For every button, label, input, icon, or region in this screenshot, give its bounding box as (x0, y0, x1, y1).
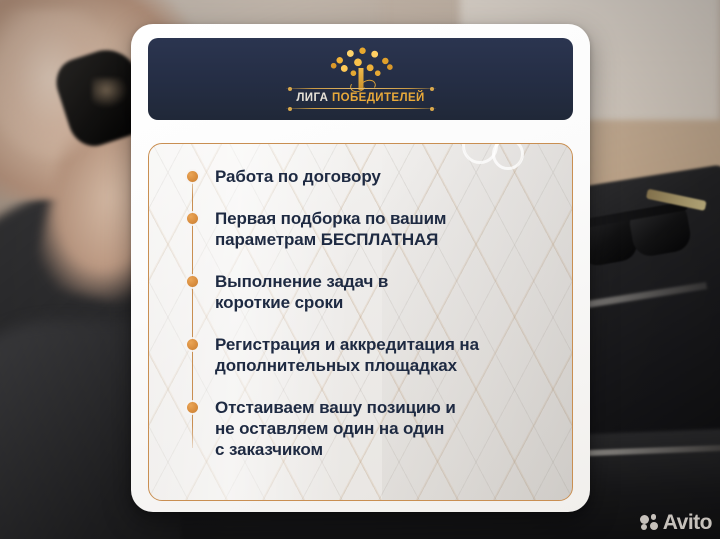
list-item: Регистрация и аккредитация на дополнител… (187, 334, 554, 376)
bullet-dot-icon (187, 171, 198, 182)
list-item-text: Отстаиваем вашу позицию и не оставляем о… (215, 397, 554, 460)
benefits-panel: Работа по договору Первая подборка по ва… (148, 143, 573, 501)
list-item-text: Первая подборка по вашим параметрам БЕСП… (215, 208, 554, 250)
logo-rule-bottom (286, 108, 436, 109)
logo-dot-bottom-right (430, 107, 434, 111)
list-item: Отстаиваем вашу позицию и не оставляем о… (187, 397, 554, 460)
list-item: Выполнение задач в короткие сроки (187, 271, 554, 313)
screenshot-root: ЛИГА ПОБЕДИТЕЛЕЙ Работа по договору Пе (0, 0, 720, 539)
tree-icon (322, 46, 400, 90)
logo-word-pobediteley: ПОБЕДИТЕЛЕЙ (332, 92, 425, 104)
list-item: Работа по договору (187, 166, 554, 187)
bullet-dot-icon (187, 402, 198, 413)
logo-word-liga: ЛИГА (296, 92, 328, 104)
logo-rule-top (286, 88, 436, 89)
logo-dot-bottom-left (288, 107, 292, 111)
avito-wordmark: Avito (663, 512, 712, 533)
logo-wordmark: ЛИГА ПОБЕДИТЕЛЕЙ (286, 90, 436, 107)
benefits-list: Работа по договору Первая подборка по ва… (187, 166, 554, 460)
avito-watermark: Avito (640, 512, 712, 533)
bullet-dot-icon (187, 339, 198, 350)
bullet-dot-icon (187, 213, 198, 224)
list-item: Первая подборка по вашим параметрам БЕСП… (187, 208, 554, 250)
list-item-text: Выполнение задач в короткие сроки (215, 271, 554, 313)
list-item-text: Работа по договору (215, 166, 554, 187)
avito-dots-icon (640, 514, 659, 531)
bullet-dot-icon (187, 276, 198, 287)
list-item-text: Регистрация и аккредитация на дополнител… (215, 334, 554, 376)
content-card: ЛИГА ПОБЕДИТЕЛЕЙ Работа по договору Пе (131, 24, 590, 512)
brand-logo: ЛИГА ПОБЕДИТЕЛЕЙ (286, 46, 436, 112)
header-band: ЛИГА ПОБЕДИТЕЛЕЙ (148, 38, 573, 120)
